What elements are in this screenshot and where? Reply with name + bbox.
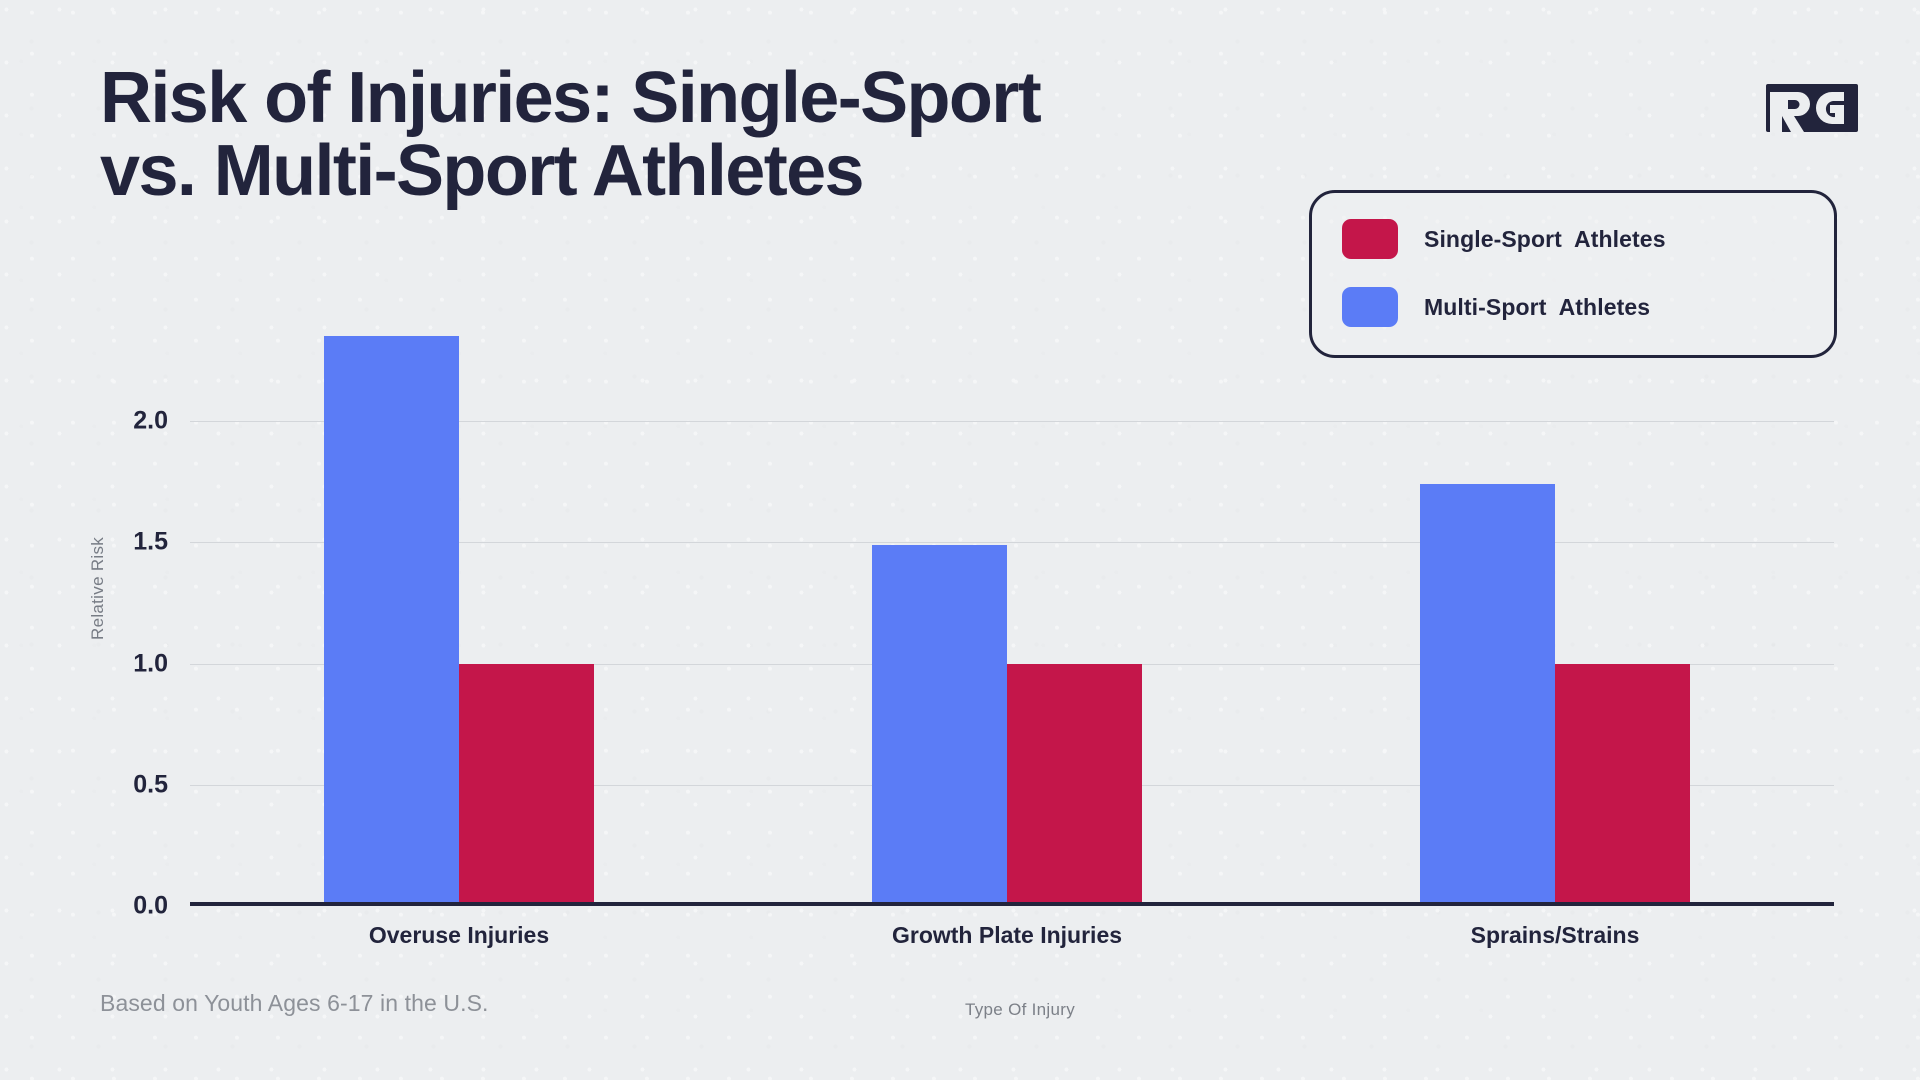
- legend-label-single-sport: Single-Sport Athletes: [1424, 226, 1666, 253]
- bar[interactable]: [324, 336, 459, 906]
- y-axis-tick-label: 0.5: [133, 770, 168, 799]
- page-title-line-2: vs. Multi-Sport Athletes: [100, 135, 1300, 208]
- bar[interactable]: [872, 545, 1007, 906]
- x-axis-category-label: Overuse Injuries: [369, 922, 549, 949]
- y-axis-tick-label: 1.0: [133, 649, 168, 678]
- x-axis-category-label: Sprains/Strains: [1471, 922, 1640, 949]
- infographic-canvas: Risk of Injuries: Single-Sport vs. Multi…: [0, 0, 1920, 1080]
- x-axis-line: [190, 902, 1834, 906]
- plot-area: 0.00.51.01.52.0 Overuse InjuriesGrowth P…: [190, 300, 1834, 906]
- y-axis-title: Relative Risk: [88, 537, 108, 640]
- bar[interactable]: [459, 664, 594, 906]
- y-axis-tick-label: 0.0: [133, 892, 168, 921]
- page-title: Risk of Injuries: Single-Sport vs. Multi…: [100, 62, 1300, 209]
- source-note: Based on Youth Ages 6-17 in the U.S.: [100, 990, 489, 1017]
- x-axis-title: Type Of Injury: [965, 1000, 1075, 1020]
- y-axis-tick-label: 1.5: [133, 528, 168, 557]
- x-axis-category-label: Growth Plate Injuries: [892, 922, 1122, 949]
- bar[interactable]: [1420, 484, 1555, 906]
- legend-item-single-sport[interactable]: Single-Sport Athletes: [1342, 215, 1804, 263]
- y-axis-tick-label: 2.0: [133, 407, 168, 436]
- bar[interactable]: [1555, 664, 1690, 906]
- rg-logo: [1766, 84, 1858, 132]
- page-title-line-1: Risk of Injuries: Single-Sport: [100, 62, 1300, 135]
- legend-swatch-single-sport: [1342, 219, 1398, 259]
- bar[interactable]: [1007, 664, 1142, 906]
